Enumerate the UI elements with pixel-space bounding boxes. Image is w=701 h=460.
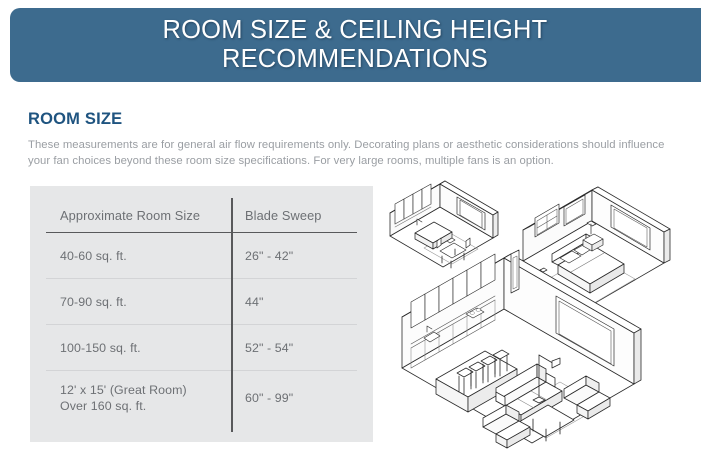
section-intro-text: These measurements are for general air f… xyxy=(28,138,680,169)
room-size-table-panel: Approximate Room Size Blade Sweep 40-60 … xyxy=(30,186,373,442)
cell-room-size-line1: 12' x 15' (Great Room) xyxy=(60,382,231,398)
table-row: 40-60 sq. ft. 26" - 42" xyxy=(46,233,357,279)
page-title: ROOM SIZE & CEILING HEIGHT RECOMMENDATIO… xyxy=(75,16,635,74)
cell-room-size: 70-90 sq. ft. xyxy=(46,279,231,325)
header-banner: ROOM SIZE & CEILING HEIGHT RECOMMENDATIO… xyxy=(10,8,701,82)
room-small-kitchen-dining xyxy=(390,181,498,268)
column-header-blade-sweep: Blade Sweep xyxy=(231,198,357,233)
column-header-room-size: Approximate Room Size xyxy=(46,198,231,233)
table-header-row: Approximate Room Size Blade Sweep xyxy=(46,198,357,233)
table-column-divider xyxy=(231,198,233,432)
cell-room-size: 100-150 sq. ft. xyxy=(46,325,231,371)
table-row: 100-150 sq. ft. 52" - 54" xyxy=(46,325,357,371)
cell-blade-sweep: 44" xyxy=(231,279,357,325)
table-row: 12' x 15' (Great Room) Over 160 sq. ft. … xyxy=(46,371,357,426)
cell-blade-sweep: 52" - 54" xyxy=(231,325,357,371)
cell-room-size: 12' x 15' (Great Room) Over 160 sq. ft. xyxy=(46,371,231,426)
section-heading-room-size: ROOM SIZE xyxy=(28,110,122,129)
isometric-room-diagrams xyxy=(378,178,701,453)
cell-blade-sweep: 60" - 99" xyxy=(231,371,357,426)
cell-room-size: 40-60 sq. ft. xyxy=(46,233,231,279)
cell-room-size-line2: Over 160 sq. ft. xyxy=(60,398,231,414)
table-row: 70-90 sq. ft. 44" xyxy=(46,279,357,325)
cell-blade-sweep: 26" - 42" xyxy=(231,233,357,279)
room-size-table: Approximate Room Size Blade Sweep 40-60 … xyxy=(46,198,357,425)
